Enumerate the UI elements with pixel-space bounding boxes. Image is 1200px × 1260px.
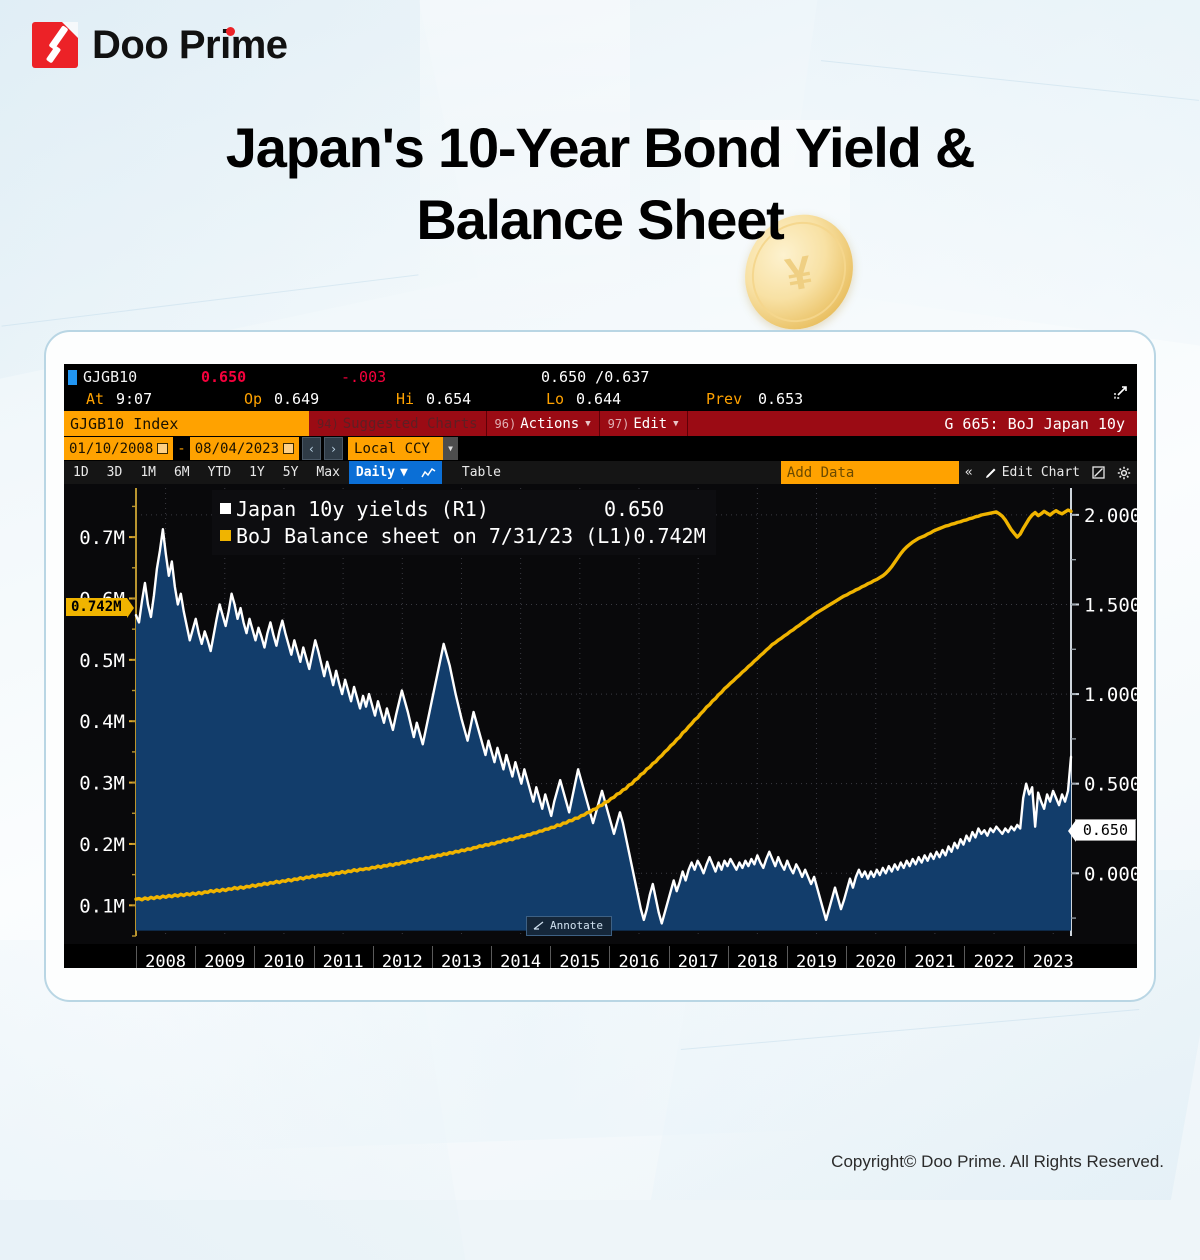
svg-text:0.500: 0.500 — [1084, 774, 1137, 796]
low-label: Lo — [546, 390, 576, 408]
x-axis-label: 2012 — [382, 952, 423, 968]
ticker-symbol: GJGB10 — [83, 368, 201, 386]
bid-ask: 0.650 /0.637 — [541, 368, 649, 386]
prev-period-button[interactable]: ‹ — [302, 437, 321, 460]
x-axis-label: 2010 — [263, 952, 304, 968]
chart-x-axis: Source: Bloomberg 2008200920102011201220… — [64, 944, 1137, 968]
end-date-input[interactable]: 08/04/2023 — [190, 437, 299, 460]
x-axis-tick — [905, 946, 906, 968]
menu-edit-num: 97) — [608, 417, 630, 431]
range-button-ytd[interactable]: YTD — [199, 461, 240, 484]
x-axis-tick — [491, 946, 492, 968]
footer-copyright: Copyright© Doo Prime. All Rights Reserve… — [831, 1152, 1164, 1172]
command-row: GJGB10 Index 94) Suggested Charts 96) Ac… — [64, 411, 1137, 436]
x-axis-label: 2017 — [678, 952, 719, 968]
x-axis-tick — [550, 946, 551, 968]
high-label: Hi — [396, 390, 426, 408]
bloomberg-terminal: GJGB10 0.650 -.003 0.650 /0.637 At 9:07 … — [64, 364, 1137, 968]
x-axis-label: 2016 — [619, 952, 660, 968]
expand-icon[interactable] — [1113, 384, 1129, 400]
chevron-down-icon: ▼ — [673, 419, 678, 429]
x-axis-tick — [609, 946, 610, 968]
legend-value-balance-sheet: 0.742M — [633, 524, 705, 548]
page-title: Japan's 10-Year Bond Yield & Balance She… — [0, 112, 1200, 255]
x-axis-label: 2013 — [441, 952, 482, 968]
ticker-color-tag — [68, 370, 77, 385]
edit-chart-button[interactable]: Edit Chart — [979, 461, 1086, 484]
x-axis-tick — [432, 946, 433, 968]
svg-text:1.500: 1.500 — [1084, 594, 1137, 616]
menu-bar: 94) Suggested Charts 96) Actions ▼ 97) E… — [309, 411, 1137, 436]
edit-chart-label: Edit Chart — [1002, 465, 1080, 480]
menu-edit-label: Edit — [633, 416, 667, 432]
x-axis-label: 2022 — [974, 952, 1015, 968]
svg-text:2.000: 2.000 — [1084, 505, 1137, 527]
x-axis-tick — [787, 946, 788, 968]
brand-name-text: Doo Prime — [92, 23, 288, 67]
start-date-value: 01/10/2008 — [69, 441, 153, 457]
prev-price: 0.653 — [758, 390, 803, 408]
chevron-down-icon: ▼ — [585, 419, 590, 429]
svg-text:0.3M: 0.3M — [79, 773, 125, 795]
end-date-value: 08/04/2023 — [195, 441, 279, 457]
legend-item-yields: Japan 10y yields (R1) 0.650 — [220, 495, 706, 522]
page-title-line1: Japan's 10-Year Bond Yield & — [226, 116, 974, 179]
x-axis-label: 2009 — [204, 952, 245, 968]
brand-header: Doo Prime — [32, 22, 288, 68]
legend-value-yields: 0.650 — [604, 497, 664, 521]
annotate-button[interactable]: Annotate — [526, 916, 612, 936]
x-axis-label: 2019 — [796, 952, 837, 968]
x-axis-label: 2018 — [737, 952, 778, 968]
annotate-icon — [533, 921, 545, 930]
x-axis-tick — [314, 946, 315, 968]
date-separator: - — [173, 437, 189, 460]
svg-text:0.4M: 0.4M — [79, 711, 125, 733]
legend-label-balance-sheet: BoJ Balance sheet on 7/31/23 (L1) — [236, 524, 633, 548]
x-axis-label: 2014 — [500, 952, 541, 968]
next-period-button[interactable]: › — [324, 437, 343, 460]
x-axis-tick — [195, 946, 196, 968]
gear-icon[interactable] — [1111, 461, 1137, 484]
fullscreen-icon[interactable] — [1086, 461, 1111, 484]
page-title-line2: Balance Sheet — [416, 188, 783, 251]
menu-suggested-charts-num: 94) — [317, 417, 339, 431]
line-chart-icon[interactable] — [415, 461, 442, 484]
svg-text:0.5M: 0.5M — [79, 650, 125, 672]
quote-time: 9:07 — [116, 390, 244, 408]
svg-text:0.1M: 0.1M — [79, 895, 125, 917]
svg-text:0.7M: 0.7M — [79, 527, 125, 549]
x-axis-label: 2020 — [855, 952, 896, 968]
x-axis-tick — [1024, 946, 1025, 968]
chart-plot-area[interactable]: 0.1M0.2M0.3M0.4M0.5M0.6M0.7M0.0000.5001.… — [64, 484, 1137, 944]
x-axis-tick — [728, 946, 729, 968]
add-data-input[interactable]: Add Data — [781, 461, 959, 484]
legend-label-yields: Japan 10y yields (R1) — [236, 497, 604, 521]
interval-row: 1D 3D 1M 6M YTD 1Y 5Y Max Daily ▼ Table … — [64, 461, 1137, 484]
svg-text:1.000: 1.000 — [1084, 684, 1137, 706]
right-axis-last-badge: 0.650 — [1075, 819, 1136, 841]
x-axis-tick — [846, 946, 847, 968]
doo-prime-logo-icon — [32, 22, 78, 68]
last-price: 0.650 — [201, 368, 341, 386]
menu-suggested-charts-label: Suggested Charts — [343, 416, 478, 432]
range-button-3d[interactable]: 3D — [98, 461, 132, 484]
high-price: 0.654 — [426, 390, 546, 408]
menu-edit[interactable]: 97) Edit ▼ — [600, 411, 688, 436]
x-axis-label: 2015 — [559, 952, 600, 968]
range-button-1m[interactable]: 1M — [131, 461, 165, 484]
chevron-down-icon: ▼ — [400, 465, 408, 480]
logo-dot-icon — [226, 27, 235, 36]
frequency-select[interactable]: Daily ▼ — [349, 461, 415, 484]
range-button-1d[interactable]: 1D — [64, 461, 98, 484]
price-change: -.003 — [341, 368, 541, 386]
collapse-button[interactable]: « — [959, 461, 979, 484]
chart-legend: Japan 10y yields (R1) 0.650 BoJ Balance … — [212, 490, 716, 555]
open-price: 0.649 — [274, 390, 396, 408]
range-button-5y[interactable]: 5Y — [274, 461, 308, 484]
time-label: At — [86, 390, 116, 408]
annotate-label: Annotate — [550, 919, 603, 932]
command-input[interactable]: GJGB10 Index — [64, 411, 309, 436]
calendar-icon[interactable] — [157, 443, 168, 454]
x-axis-tick — [964, 946, 965, 968]
chevron-down-icon[interactable]: ▼ — [443, 437, 458, 460]
left-axis-last-badge: 0.742M — [66, 598, 127, 616]
menu-actions-label: Actions — [520, 416, 579, 432]
start-date-input[interactable]: 01/10/2008 — [64, 437, 173, 460]
range-button-max[interactable]: Max — [307, 461, 348, 484]
x-axis-label: 2021 — [914, 952, 955, 968]
quote-panel: GJGB10 0.650 -.003 0.650 /0.637 At 9:07 … — [64, 364, 1137, 410]
date-range-row: 01/10/2008 - 08/04/2023 ‹ › Local CCY ▼ — [64, 437, 1137, 460]
open-label: Op — [244, 390, 274, 408]
x-axis-tick — [669, 946, 670, 968]
x-axis-label: 2011 — [323, 952, 364, 968]
menu-suggested-charts[interactable]: 94) Suggested Charts — [309, 411, 487, 436]
low-price: 0.644 — [576, 390, 706, 408]
legend-swatch-yields — [220, 503, 231, 514]
x-axis-tick — [136, 946, 137, 968]
legend-item-balance-sheet: BoJ Balance sheet on 7/31/23 (L1) 0.742M — [220, 522, 706, 549]
x-axis-tick — [373, 946, 374, 968]
currency-select[interactable]: Local CCY — [348, 437, 443, 460]
x-axis-label: 2023 — [1033, 952, 1074, 968]
legend-swatch-balance-sheet — [220, 530, 231, 541]
x-axis-tick — [254, 946, 255, 968]
brand-name: Doo Prime — [92, 23, 288, 68]
table-button[interactable]: Table — [442, 461, 521, 484]
svg-text:0.000: 0.000 — [1084, 863, 1137, 885]
frequency-label: Daily — [356, 465, 395, 480]
range-button-1y[interactable]: 1Y — [240, 461, 274, 484]
prev-label: Prev — [706, 390, 758, 408]
chart-function-title: G 665: BoJ Japan 10y — [932, 411, 1137, 436]
calendar-icon[interactable] — [283, 443, 294, 454]
menu-actions-num: 96) — [495, 417, 517, 431]
menu-actions[interactable]: 96) Actions ▼ — [487, 411, 600, 436]
x-axis-label: 2008 — [145, 952, 186, 968]
pencil-icon — [985, 467, 997, 479]
svg-text:0.2M: 0.2M — [79, 834, 125, 856]
range-button-6m[interactable]: 6M — [165, 461, 199, 484]
